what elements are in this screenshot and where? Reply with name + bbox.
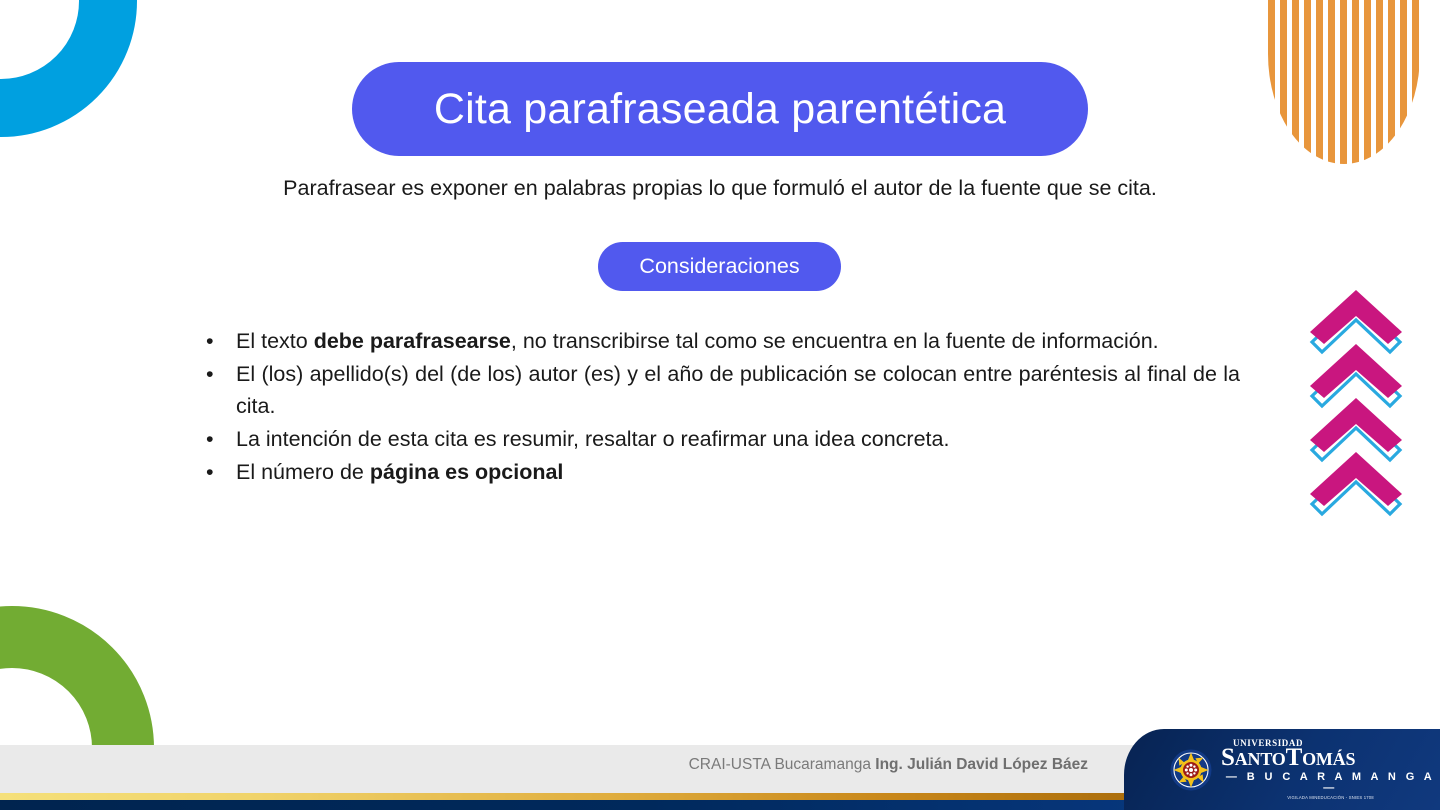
sun-emblem-icon (1170, 749, 1212, 791)
list-item: • El (los) apellido(s) del (de los) auto… (200, 358, 1240, 423)
chevron-magenta-icon (1306, 448, 1406, 520)
footer-credit-plain: CRAI-USTA Bucaramanga (689, 756, 876, 773)
list-item-text: El texto debe parafrasearse, no transcri… (236, 325, 1240, 358)
wordmark-omas: OMÁS (1302, 749, 1355, 769)
list-item: • El número de página es opcional (200, 456, 1240, 489)
wordmark-anto: ANTO (1235, 749, 1286, 769)
university-logo-block: UNIVERSIDAD SANTOTOMÁS — B U C A R A M A… (1124, 729, 1440, 810)
page-title: Cita parafraseada parentética (434, 85, 1006, 134)
bullet-marker-icon: • (200, 423, 236, 456)
list-item-text: El (los) apellido(s) del (de los) autor … (236, 358, 1240, 423)
chevron-group (1306, 448, 1406, 520)
slide-title-pill: Cita parafraseada parentética (352, 62, 1088, 156)
list-item-text-bold: página es opcional (370, 460, 564, 484)
list-item: • El texto debe parafrasearse, no transc… (200, 325, 1240, 358)
list-item-text-pre: El (los) apellido(s) del (de los) autor … (236, 362, 1240, 419)
list-item: • La intención de esta cita es resumir, … (200, 423, 1240, 456)
list-item-text-pre: La intención de esta cita es resumir, re… (236, 427, 949, 451)
list-item-text-bold: debe parafrasearse (314, 329, 511, 353)
blue-ring-decoration (0, 0, 137, 137)
chevron-arrows-decoration (1306, 286, 1406, 518)
list-item-text-post: , no transcribirse tal como se encuentra… (511, 329, 1159, 353)
bullet-marker-icon: • (200, 456, 236, 489)
wordmark-santo-tomas: SANTOTOMÁS (1221, 745, 1440, 770)
striped-shield-decoration (1268, 0, 1420, 164)
list-item-text-pre: El texto (236, 329, 314, 353)
bullet-marker-icon: • (200, 358, 236, 391)
university-wordmark: UNIVERSIDAD SANTOTOMÁS — B U C A R A M A… (1221, 739, 1440, 800)
slide-subtitle: Parafrasear es exponer en palabras propi… (0, 176, 1440, 201)
list-item-text: La intención de esta cita es resumir, re… (236, 423, 1240, 456)
bullet-marker-icon: • (200, 325, 236, 358)
wordmark-s: S (1221, 744, 1235, 771)
wordmark-city: — B U C A R A M A N G A — (1221, 772, 1440, 794)
list-item-text-pre: El número de (236, 460, 370, 484)
slide-canvas: Cita parafraseada parentética Parafrasea… (0, 0, 1440, 810)
wordmark-t: T (1286, 744, 1302, 771)
section-label-text: Consideraciones (639, 254, 799, 279)
university-logo: UNIVERSIDAD SANTOTOMÁS — B U C A R A M A… (1170, 739, 1440, 800)
wordmark-legal-text: VIGILADA MINEDUCACIÓN - SNIES 1708 (1221, 796, 1440, 800)
section-label-pill: Consideraciones (598, 242, 841, 291)
considerations-list: • El texto debe parafrasearse, no transc… (200, 325, 1240, 488)
footer-credit-bold: Ing. Julián David López Báez (875, 756, 1088, 773)
list-item-text: El número de página es opcional (236, 456, 1240, 489)
footer-credit: CRAI-USTA Bucaramanga Ing. Julián David … (0, 756, 1128, 774)
